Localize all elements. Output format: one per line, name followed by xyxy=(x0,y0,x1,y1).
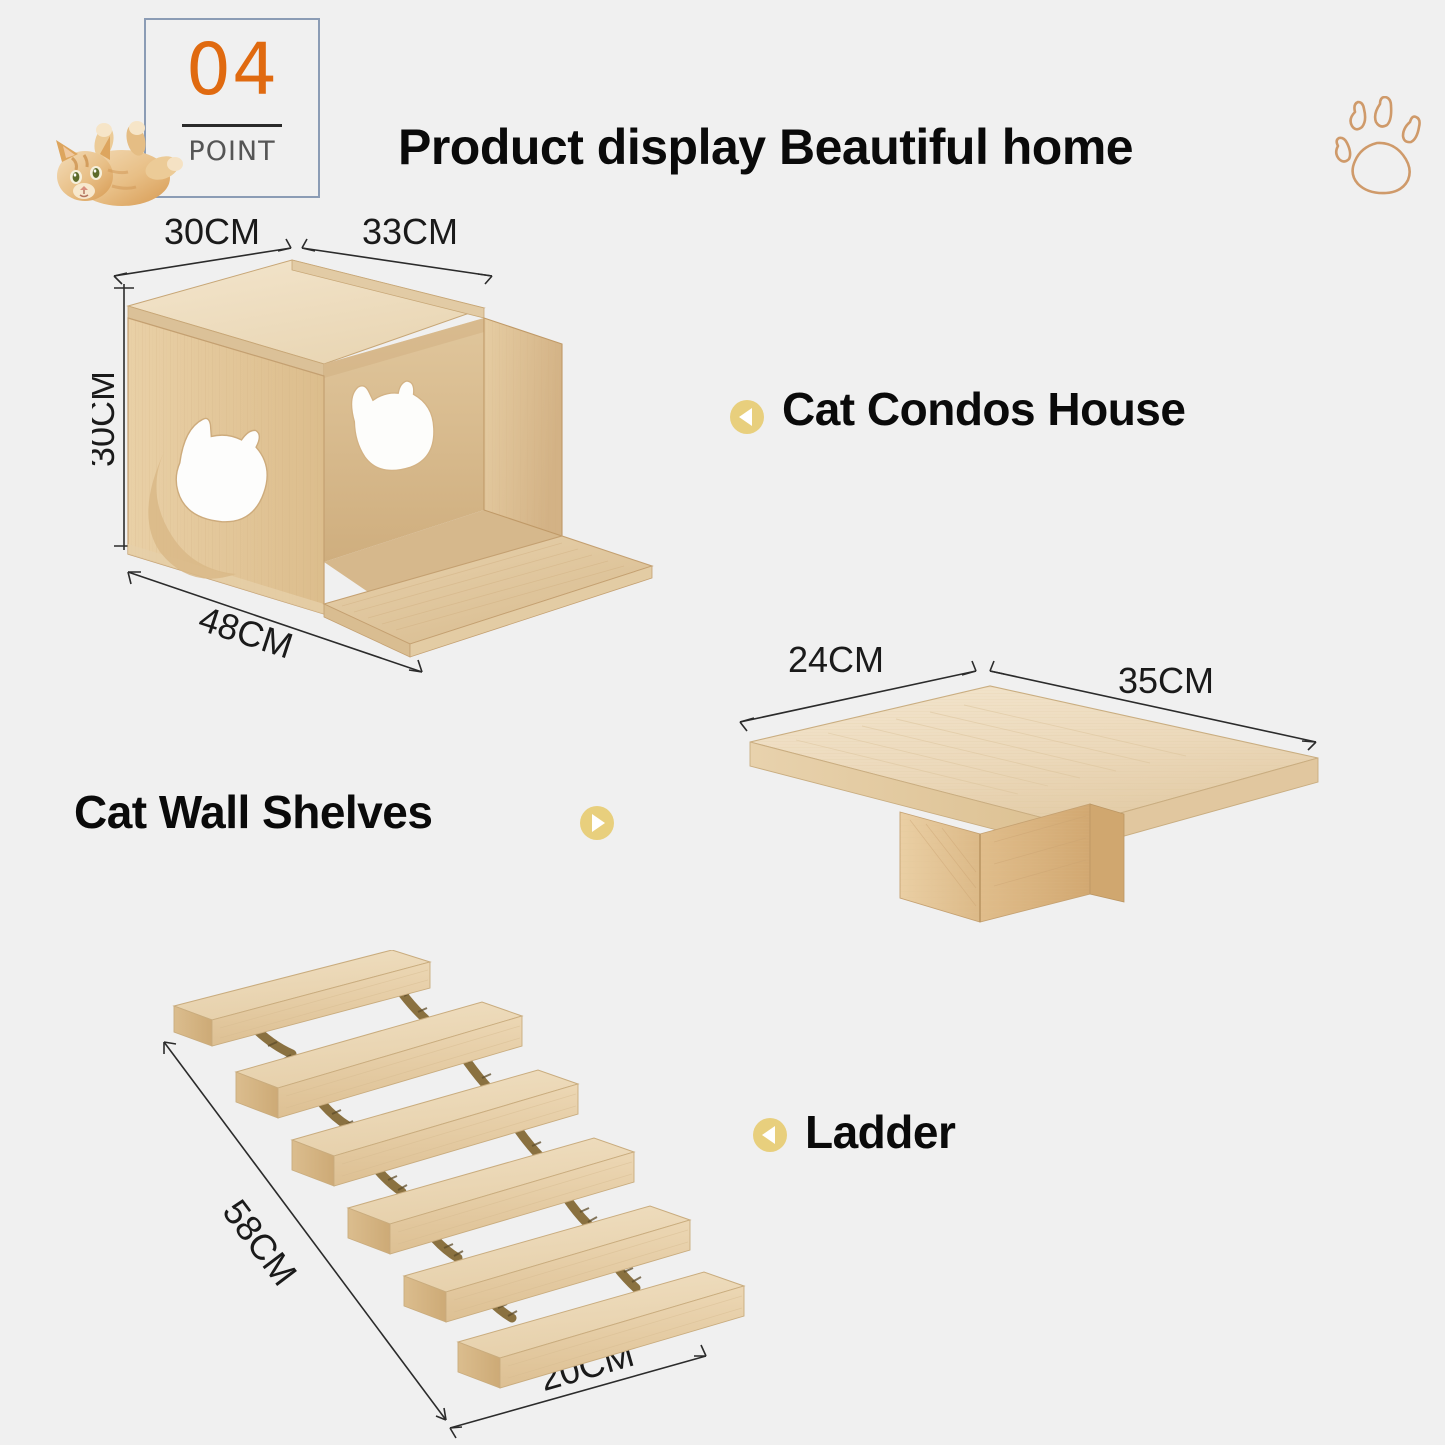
ladder-figure: 58CM 20CM xyxy=(150,950,800,1440)
triangle-right-icon xyxy=(592,814,605,832)
dim-shelf-width: 35CM xyxy=(1118,660,1214,701)
page-title: Product display Beautiful home xyxy=(398,118,1133,176)
bullet-icon-cat-condos-house xyxy=(730,400,764,434)
kitten-icon xyxy=(44,110,196,214)
section-label-ladder: Ladder xyxy=(805,1105,955,1159)
triangle-left-icon xyxy=(739,408,752,426)
product-display-canvas: 04 POINT xyxy=(0,0,1445,1445)
point-badge-divider xyxy=(182,124,282,127)
section-label-cat-condos-house: Cat Condos House xyxy=(782,382,1185,436)
paw-print-icon xyxy=(1325,96,1435,201)
dim-shelf-depth: 24CM xyxy=(788,639,884,680)
dim-condo-width: 48CM xyxy=(194,598,298,667)
dim-condo-depth-left: 30CM xyxy=(164,214,260,252)
cat-wall-shelves-figure: 24CM 35CM xyxy=(718,626,1408,936)
bullet-icon-cat-wall-shelves xyxy=(580,806,614,840)
point-badge-number: 04 xyxy=(146,34,318,105)
section-label-cat-wall-shelves: Cat Wall Shelves xyxy=(74,785,432,839)
dim-ladder-length: 58CM xyxy=(215,1192,306,1293)
dim-condo-depth-right: 33CM xyxy=(362,214,458,252)
dim-condo-height: 30CM xyxy=(92,371,122,467)
point-badge: 04 POINT xyxy=(44,14,334,209)
cat-condos-house-figure: 30CM 33CM 30CM xyxy=(92,214,682,704)
